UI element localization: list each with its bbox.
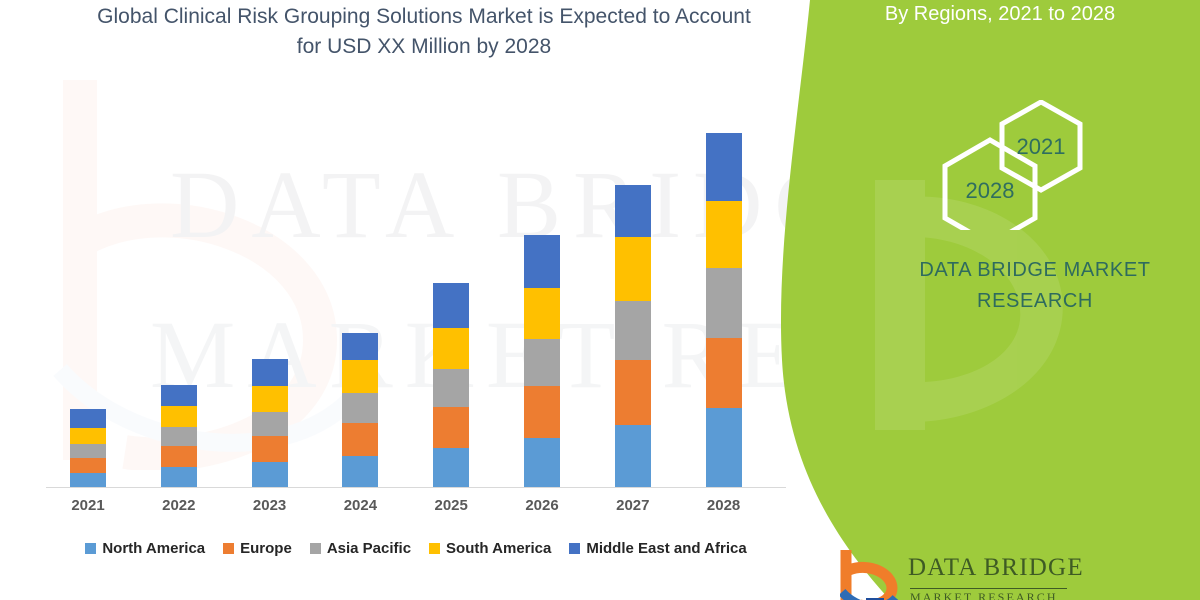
bar-segment[interactable] [252,386,288,412]
panel-title: Solutions Market, By Regions, 2021 to 20… [800,0,1200,28]
bar-segment[interactable] [433,448,469,487]
bar-segment[interactable] [342,333,378,360]
legend-item[interactable]: North America [85,540,205,557]
x-axis-label-2024: 2024 [320,497,400,514]
bar-segment[interactable] [524,339,560,386]
legend-label: North America [102,540,205,557]
brand-line-2: RESEARCH [890,286,1180,317]
bar-segment[interactable] [615,301,651,360]
bar-segment[interactable] [252,412,288,436]
bar-segment[interactable] [161,467,197,487]
hexagon-2028-label: 2028 [966,178,1015,203]
bar-segment[interactable] [342,360,378,393]
legend-item[interactable]: Middle East and Africa [569,540,746,557]
bar-2027[interactable] [615,185,651,487]
bar-segment[interactable] [252,436,288,462]
hexagon-pair-icon: 2021 2028 [928,100,1118,230]
bar-segment[interactable] [615,360,651,425]
x-axis-label-2027: 2027 [593,497,673,514]
x-axis-label-2026: 2026 [502,497,582,514]
data-bridge-logo-words: DATA BRIDGE [908,554,1084,582]
bar-segment[interactable] [524,438,560,487]
infographic-canvas: DATA BRIDGE MARKET RESEARCH Global Clini… [0,0,1200,600]
logo-divider [910,588,1067,589]
legend-swatch-icon [223,543,234,554]
legend-swatch-icon [429,543,440,554]
bar-segment[interactable] [70,444,106,458]
bar-segment[interactable] [706,201,742,268]
legend-swatch-icon [85,543,96,554]
bar-segment[interactable] [161,427,197,446]
bar-2025[interactable] [433,283,469,487]
bar-segment[interactable] [342,393,378,423]
bar-segment[interactable] [252,359,288,386]
bar-segment[interactable] [70,473,106,487]
bar-segment[interactable] [342,423,378,456]
data-bridge-logo-mark-icon [840,548,898,600]
legend-item[interactable]: Europe [223,540,292,557]
x-axis-line [46,487,786,488]
legend-label: Europe [240,540,292,557]
bar-segment[interactable] [161,406,197,427]
bar-segment[interactable] [706,268,742,338]
bar-segment[interactable] [433,369,469,407]
legend-label: Asia Pacific [327,540,411,557]
chart-legend: North AmericaEuropeAsia PacificSouth Ame… [46,540,786,557]
bar-segment[interactable] [70,428,106,444]
bar-2023[interactable] [252,359,288,487]
brand-text: DATA BRIDGE MARKET RESEARCH [890,255,1180,317]
legend-swatch-icon [310,543,321,554]
x-axis-label-2021: 2021 [48,497,128,514]
bar-segment[interactable] [615,237,651,301]
brand-line-1: DATA BRIDGE MARKET [890,255,1180,286]
bar-segment[interactable] [615,425,651,487]
x-axis-label-2025: 2025 [411,497,491,514]
bar-2026[interactable] [524,235,560,487]
bar-segment[interactable] [706,338,742,408]
bar-2024[interactable] [342,333,378,487]
legend-swatch-icon [569,543,580,554]
x-axis-label-2028: 2028 [684,497,764,514]
panel-title-line-2: By Regions, 2021 to 2028 [800,1,1200,28]
data-bridge-logo: DATA BRIDGE MARKET RESEARCH [840,548,1170,600]
x-axis-label-2023: 2023 [230,497,310,514]
bar-segment[interactable] [161,385,197,406]
bar-segment[interactable] [433,407,469,448]
chart-title-line-2: for USD XX Million by 2028 [34,32,814,62]
x-axis-label-2022: 2022 [139,497,219,514]
bar-segment[interactable] [161,446,197,467]
hexagon-2021-label: 2021 [1017,134,1066,159]
bar-segment[interactable] [524,235,560,288]
bar-segment[interactable] [706,408,742,487]
bar-segment[interactable] [524,288,560,339]
legend-item[interactable]: South America [429,540,551,557]
bar-segment[interactable] [433,283,469,328]
bar-segment[interactable] [615,185,651,237]
chart-plot-area: Global Clinical Risk Grouping Solutions … [0,0,820,600]
chart-title-line-1: Global Clinical Risk Grouping Solutions … [34,2,814,32]
bar-2021[interactable] [70,409,106,487]
chart-title: Global Clinical Risk Grouping Solutions … [34,2,814,62]
bar-2028[interactable] [706,133,742,487]
bar-segment[interactable] [70,409,106,428]
legend-item[interactable]: Asia Pacific [310,540,411,557]
bar-segment[interactable] [342,456,378,487]
bar-segment[interactable] [70,458,106,473]
legend-label: Middle East and Africa [586,540,746,557]
bar-segment[interactable] [252,462,288,487]
data-bridge-logo-subtitle: MARKET RESEARCH [910,590,1058,600]
bar-segment[interactable] [524,386,560,438]
bar-2022[interactable] [161,385,197,487]
legend-label: South America [446,540,551,557]
bar-segment[interactable] [706,133,742,201]
bar-segment[interactable] [433,328,469,369]
